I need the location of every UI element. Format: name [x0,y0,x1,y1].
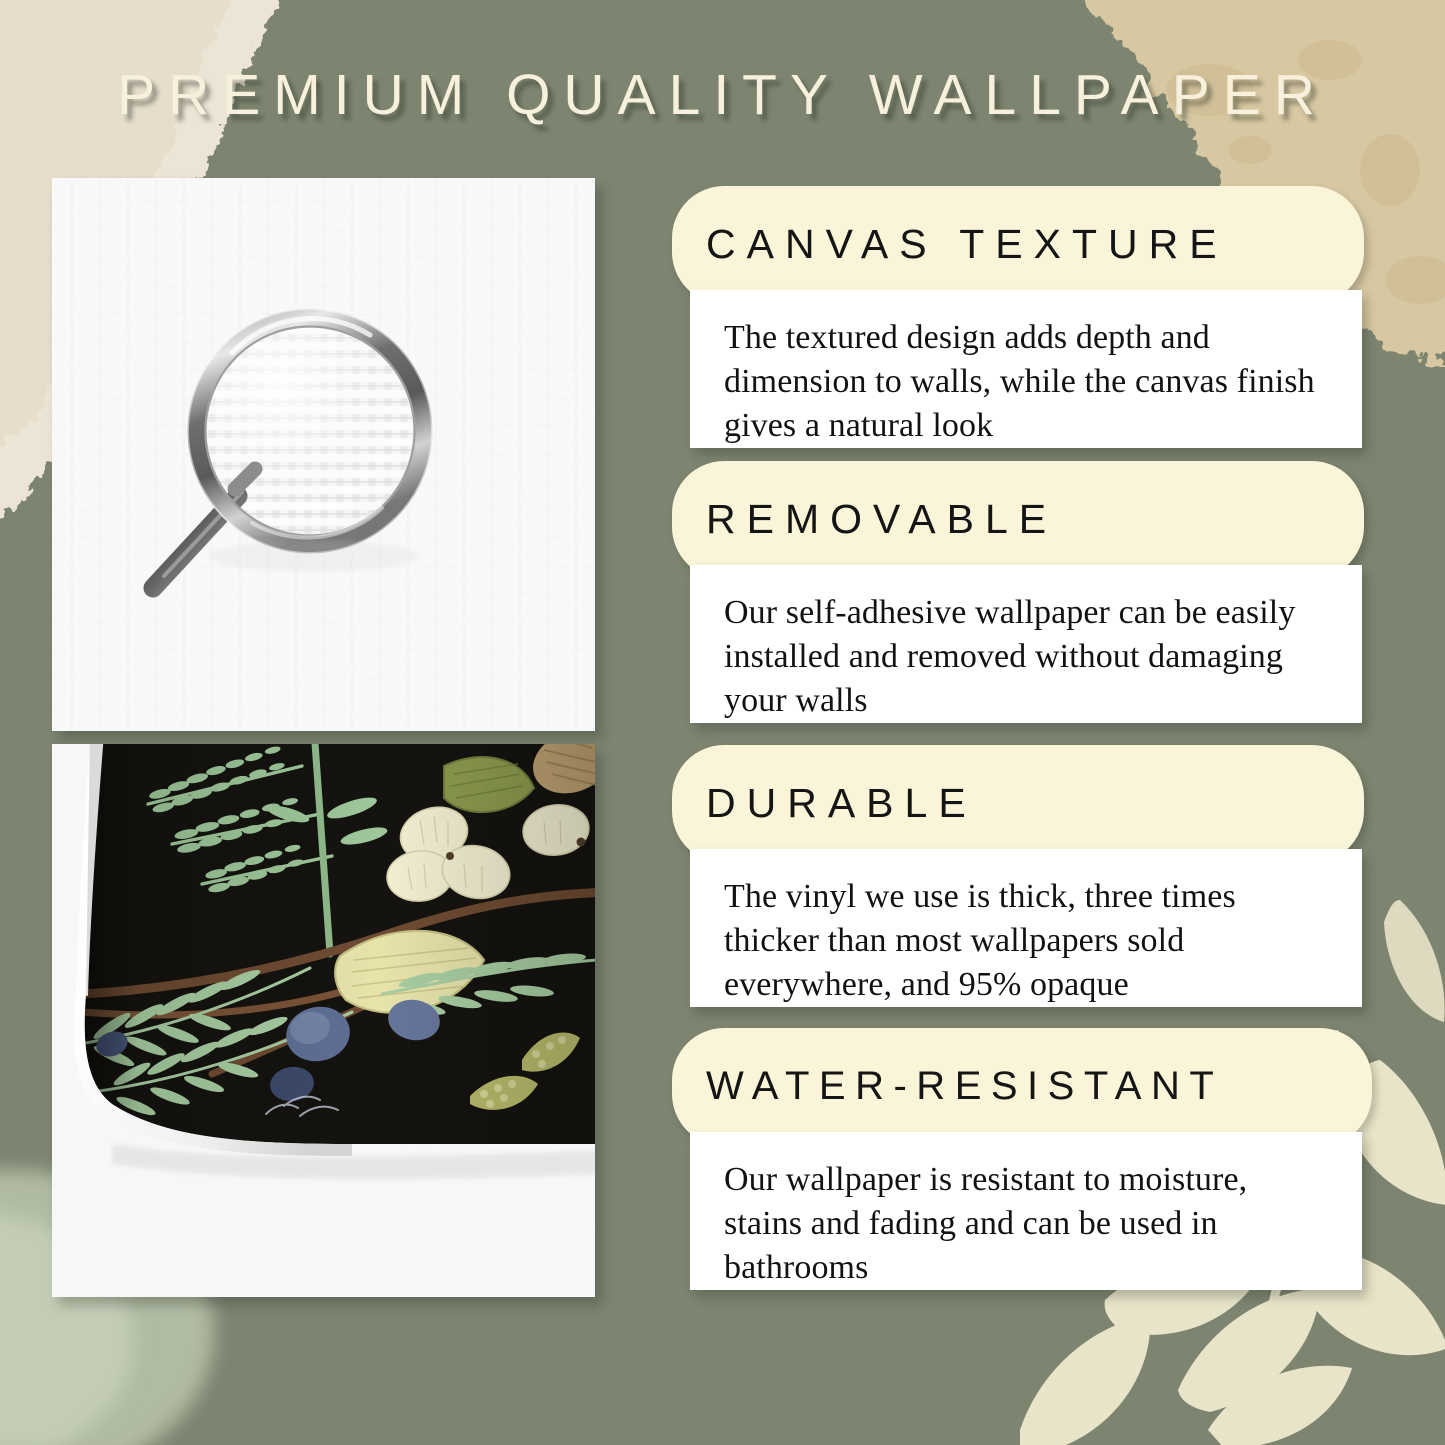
wallpaper-roll-photo [52,744,595,1297]
feature-description: Our wallpaper is resistant to moisture, … [690,1132,1362,1315]
feature-header-removable: REMOVABLE [672,461,1364,579]
feature-header-durable: DURABLE [672,745,1364,863]
feature-header-canvas-texture: CANVAS TEXTURE [672,186,1364,304]
feature-description: The textured design adds depth and dimen… [690,290,1362,473]
feature-title: REMOVABLE [672,496,1057,543]
feature-description: The vinyl we use is thick, three times t… [690,849,1362,1032]
feature-title: WATER-RESISTANT [672,1064,1223,1109]
feature-title: CANVAS TEXTURE [672,221,1228,268]
feature-body-canvas-texture: The textured design adds depth and dimen… [690,290,1362,448]
page-title: PREMIUM QUALITY WALLPAPER [0,62,1445,128]
feature-title: DURABLE [672,780,977,827]
feature-body-durable: The vinyl we use is thick, three times t… [690,849,1362,1007]
feature-body-water-resistant: Our wallpaper is resistant to moisture, … [690,1132,1362,1290]
canvas-texture-photo [52,178,595,731]
feature-body-removable: Our self-adhesive wallpaper can be easil… [690,565,1362,723]
feature-header-water-resistant: WATER-RESISTANT [672,1028,1372,1146]
feature-description: Our self-adhesive wallpaper can be easil… [690,565,1362,748]
